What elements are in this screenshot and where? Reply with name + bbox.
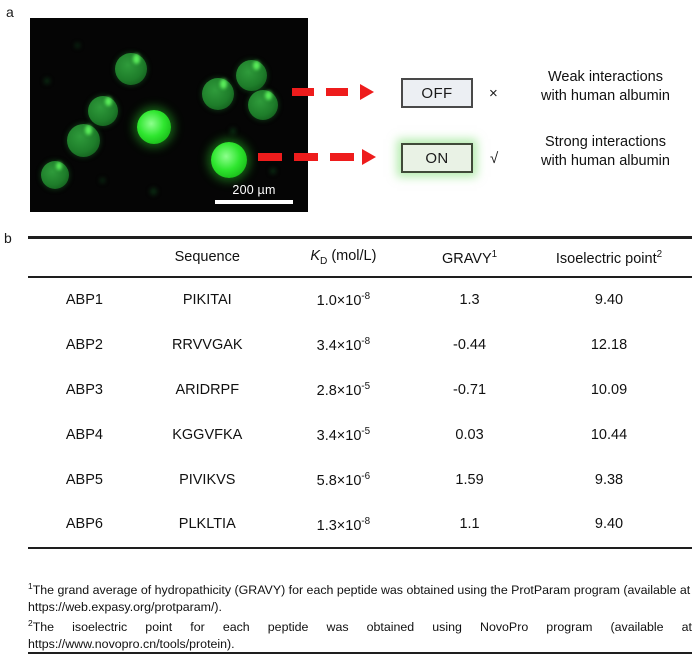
arrow-to-on-state	[258, 149, 396, 165]
cell-gravy: 1.3	[413, 277, 526, 323]
bead-highlight	[105, 97, 112, 106]
kd-units: (mol/L)	[327, 248, 376, 264]
kd-exponent: -8	[361, 336, 370, 347]
cell-isoelectric-point: 9.40	[526, 502, 692, 548]
arrow-dash	[258, 153, 282, 161]
scale-bar-label: 200 µm	[210, 183, 298, 197]
background-speck	[150, 188, 157, 195]
footnote-2: 2The isoelectric point for each peptide …	[28, 615, 692, 652]
arrow-dash	[326, 88, 348, 96]
cell-peptide-id: ABP2	[28, 323, 141, 368]
table-footnotes: 1The grand average of hydropathicity (GR…	[28, 578, 692, 652]
interaction-description-off: Weak interactions with human albumin	[518, 68, 693, 106]
cell-sequence: PIKITAI	[141, 277, 274, 323]
cell-peptide-id: ABP3	[28, 368, 141, 413]
background-speck	[230, 128, 236, 134]
bead-highlight	[220, 79, 227, 89]
cell-isoelectric-point: 10.09	[526, 368, 692, 413]
bead-on-left	[137, 110, 171, 144]
gravy-footnote-marker: 1	[492, 249, 497, 260]
background-speck	[75, 43, 80, 48]
scale-bar: 200 µm	[210, 183, 298, 204]
cell-isoelectric-point: 9.38	[526, 457, 692, 502]
column-header-gravy: GRAVY1	[413, 238, 526, 277]
kd-mantissa: 5.8×10	[317, 473, 362, 489]
cell-kd: 2.8×10-5	[274, 368, 413, 413]
arrow-to-off-state	[292, 84, 396, 100]
bead-highlight	[133, 54, 140, 64]
bead-off-7	[248, 90, 278, 120]
cell-kd: 3.4×10-5	[274, 412, 413, 457]
panel-label-b: b	[4, 230, 12, 246]
kd-exponent: -5	[361, 381, 370, 392]
fluorescence-micrograph: 200 µm	[30, 18, 308, 212]
scale-bar-line	[215, 200, 293, 204]
pi-footnote-marker: 2	[657, 249, 662, 260]
panel-label-a: a	[6, 4, 14, 20]
bead-off-5	[202, 78, 234, 110]
kd-mantissa: 1.3×10	[317, 517, 362, 533]
cell-peptide-id: ABP5	[28, 457, 141, 502]
cell-isoelectric-point: 12.18	[526, 323, 692, 368]
kd-exponent: -8	[361, 291, 370, 302]
bead-highlight	[56, 162, 62, 170]
interaction-off-line2: with human albumin	[518, 87, 693, 106]
arrow-dash	[294, 153, 318, 161]
cell-isoelectric-point: 9.40	[526, 277, 692, 323]
panel-a: a 200 µm OFF × Weak interactions with hu…	[0, 0, 700, 222]
table-row: ABP3ARIDRPF2.8×10-5-0.7110.09	[28, 368, 692, 413]
footnote-1: 1The grand average of hydropathicity (GR…	[28, 578, 692, 615]
cell-isoelectric-point: 10.44	[526, 412, 692, 457]
arrowhead-icon	[360, 84, 374, 100]
column-header-isoelectric-point: Isoelectric point2	[526, 238, 692, 277]
kd-mantissa: 3.4×10	[317, 428, 362, 444]
bead-off-4	[115, 53, 147, 85]
bead-off-3	[41, 161, 69, 189]
table-header-row: Sequence KD (mol/L) GRAVY1 Isoelectric p…	[28, 238, 692, 277]
interaction-description-on: Strong interactions with human albumin	[518, 133, 693, 171]
kd-exponent: -8	[361, 516, 370, 527]
bead-off-2	[67, 124, 100, 157]
cell-kd: 1.3×10-8	[274, 502, 413, 548]
table-row: ABP4KGGVFKA3.4×10-50.0310.44	[28, 412, 692, 457]
cell-kd: 1.0×10-8	[274, 277, 413, 323]
cell-gravy: 1.59	[413, 457, 526, 502]
cell-sequence: KGGVFKA	[141, 412, 274, 457]
cell-peptide-id: ABP4	[28, 412, 141, 457]
cell-kd: 3.4×10-8	[274, 323, 413, 368]
kd-exponent: -6	[361, 471, 370, 482]
peptide-properties-table: Sequence KD (mol/L) GRAVY1 Isoelectric p…	[28, 236, 692, 549]
cell-sequence: RRVVGAK	[141, 323, 274, 368]
kd-mantissa: 1.0×10	[317, 293, 362, 309]
check-mark-icon: √	[490, 150, 498, 167]
interaction-off-line1: Weak interactions	[518, 68, 693, 87]
table-header: Sequence KD (mol/L) GRAVY1 Isoelectric p…	[28, 238, 692, 277]
bead-highlight	[85, 125, 92, 135]
kd-symbol: K	[310, 248, 320, 264]
background-speck	[44, 78, 50, 84]
column-header-id	[28, 238, 141, 277]
arrow-dash	[330, 153, 354, 161]
cell-gravy: -0.71	[413, 368, 526, 413]
interaction-on-line2: with human albumin	[518, 152, 693, 171]
background-speck	[100, 178, 105, 183]
kd-mantissa: 2.8×10	[317, 383, 362, 399]
table-row: ABP1PIKITAI1.0×10-81.39.40	[28, 277, 692, 323]
bead-highlight	[253, 61, 260, 70]
column-header-kd: KD (mol/L)	[274, 238, 413, 277]
state-box-on: ON	[401, 143, 473, 173]
cell-gravy: -0.44	[413, 323, 526, 368]
kd-mantissa: 3.4×10	[317, 338, 362, 354]
cell-sequence: PIVIKVS	[141, 457, 274, 502]
bead-highlight	[265, 91, 272, 100]
footnote-2-text: The isoelectric point for each peptide w…	[28, 620, 692, 651]
bead-off-6	[236, 60, 267, 91]
footnote-bottom-rule	[28, 652, 692, 654]
gravy-label: GRAVY	[442, 250, 492, 266]
cell-peptide-id: ABP6	[28, 502, 141, 548]
cell-peptide-id: ABP1	[28, 277, 141, 323]
cell-gravy: 0.03	[413, 412, 526, 457]
table-row: ABP5PIVIKVS5.8×10-61.599.38	[28, 457, 692, 502]
cross-mark-icon: ×	[489, 85, 498, 102]
table-row: ABP6PLKLTIA1.3×10-81.19.40	[28, 502, 692, 548]
panel-b: Sequence KD (mol/L) GRAVY1 Isoelectric p…	[28, 236, 692, 549]
cell-gravy: 1.1	[413, 502, 526, 548]
cell-sequence: PLKLTIA	[141, 502, 274, 548]
kd-exponent: -5	[361, 426, 370, 437]
bead-off-1	[88, 96, 118, 126]
cell-sequence: ARIDRPF	[141, 368, 274, 413]
table-row: ABP2RRVVGAK3.4×10-8-0.4412.18	[28, 323, 692, 368]
pi-label: Isoelectric point	[556, 250, 657, 266]
bead-on-main	[211, 142, 247, 178]
footnote-1-text: The grand average of hydropathicity (GRA…	[28, 583, 690, 614]
column-header-sequence: Sequence	[141, 238, 274, 277]
table-body: ABP1PIKITAI1.0×10-81.39.40ABP2RRVVGAK3.4…	[28, 277, 692, 548]
cell-kd: 5.8×10-6	[274, 457, 413, 502]
state-box-off: OFF	[401, 78, 473, 108]
arrowhead-icon	[362, 149, 376, 165]
arrow-dash	[292, 88, 314, 96]
interaction-on-line1: Strong interactions	[518, 133, 693, 152]
background-speck	[270, 168, 276, 174]
